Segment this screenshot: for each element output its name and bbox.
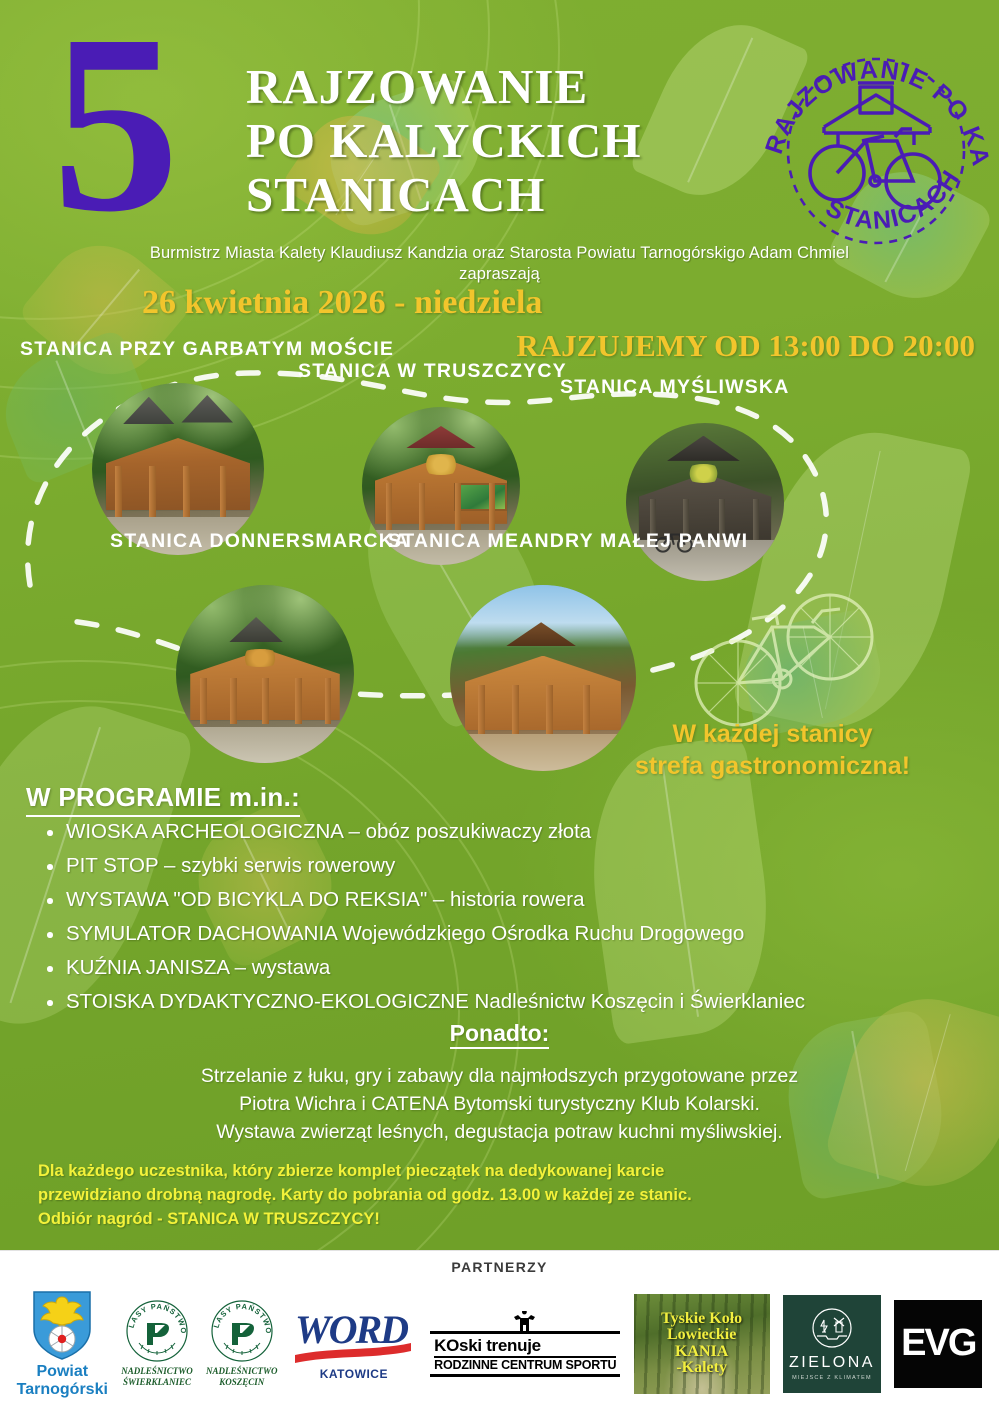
prizes-line-3: Odbiór nagród - STANICA W TRUSZCZYCY! [38,1208,938,1232]
kania-line-1: Tyskie Koło [661,1311,742,1327]
stamp-text-top: RAJZOWANIE PO KALYCKICH [762,33,990,170]
zielona-badge: ZIELONA MIEJSCE Z KLIMATEM [783,1295,881,1393]
partner-logos: Powiat Tarnogórski LASY PAŃSTWOWE [0,1281,999,1406]
evg-title: EVG [901,1322,975,1365]
partners-heading: PARTNERZY [0,1259,999,1275]
kania-line-4: -Kalety [661,1360,742,1376]
page-title: RAJZOWANIE PO KALYCKICH STANICACH [246,62,746,220]
zielona-title: ZIELONA [789,1354,875,1372]
partner-logo-powiat-tarnogorski[interactable]: Powiat Tarnogórski [17,1289,108,1398]
additionally-heading: Ponadto: [0,1020,999,1047]
additionally-line-2: Piotra Wichra i CATENA Bytomski turystyc… [0,1090,999,1118]
kania-forest-photo: Tyskie Koło Lowieckie KANIA -Kalety [634,1294,770,1394]
additionally-line-3: Wystawa zwierząt leśnych, degustacja pot… [0,1118,999,1146]
bicycle-outline-icon [690,575,890,735]
coat-of-arms-eagle-icon [30,1289,94,1361]
program-heading: W PROGRAMIE m.in.: [26,782,300,817]
lasy-panstwowe-icon: LASY PAŃSTWOWE [210,1299,274,1363]
koski-line-2: RODZINNE CENTRUM SPORTU [434,1356,616,1372]
powiat-caption-line-1: Powiat [17,1363,108,1381]
invitation-line-1: Burmistrz Miasta Kalety Klaudiusz Kandzi… [0,243,999,264]
title-line-2: PO KALYCKICH [246,116,746,166]
powiat-caption-line-2: Tarnogórski [17,1381,108,1399]
word-caption: KATOWICE [320,1367,388,1381]
prizes-note: Dla każdego uczestnika, który zbierze ko… [38,1160,938,1232]
additionally-heading-text: Ponadto: [450,1020,550,1049]
title-line-3: STANICACH [246,170,746,220]
nadlesnictwo2-caption-line-2: KOSZĘCIN [206,1377,278,1388]
list-item: KUŹNIA JANISZA – wystawa [38,958,978,979]
nadlesnictwo2-caption-line-1: NADLEŚNICTWO [206,1366,278,1377]
list-item: STOISKA DYDAKTYCZNO-EKOLOGICZNE Nadleśni… [38,992,978,1013]
additionally-text: Strzelanie z łuku, gry i zabawy dla najm… [0,1062,999,1146]
nadlesnictwo1-caption-line-1: NADLEŚNICTWO [121,1366,193,1377]
lasy-panstwowe-icon: LASY PAŃSTWOWE [125,1299,189,1363]
station-label-text: STANICA W TRUSZCZYCY [298,360,567,382]
additionally-line-1: Strzelanie z łuku, gry i zabawy dla najm… [0,1062,999,1090]
prizes-line-2: przewidziano drobną nagrodę. Karty do po… [38,1184,938,1208]
partner-logo-word-katowice[interactable]: WORD KATOWICE [291,1307,417,1381]
station-photo [176,585,354,763]
word-wordmark-icon: WORD [291,1307,417,1367]
gastro-notice: W każdej stanicy strefa gastronomiczna! [560,718,985,782]
partner-logo-koski-trenuje[interactable]: KOski trenuje RODZINNE CENTRUM SPORTU [430,1311,620,1377]
list-item: WIOSKA ARCHEOLOGICZNA – obóz poszukiwacz… [38,822,978,843]
list-item: PIT STOP – szybki serwis rowerowy [38,856,978,877]
koski-wordmark: KOski trenuje RODZINNE CENTRUM SPORTU [430,1331,620,1377]
word-mark-text: WORD [295,1307,408,1352]
partners-footer: PARTNERZY Powiat [0,1250,999,1412]
title-line-1: RAJZOWANIE [246,62,746,112]
evg-badge: EVG [894,1300,982,1388]
gastro-line-2: strefa gastronomiczna! [560,750,985,782]
prizes-line-1: Dla każdego uczestnika, który zbierze ko… [38,1160,938,1184]
partner-logo-nadlesnictwo-swierklaniec[interactable]: LASY PAŃSTWOWE NADLEŚNICTWO ŚWIERKLANIEC [121,1299,193,1389]
kania-line-2: Lowieckie [661,1327,742,1343]
kania-line-3: KANIA [661,1344,742,1360]
invitation-text: Burmistrz Miasta Kalety Klaudiusz Kandzi… [0,243,999,285]
partner-logo-evg[interactable]: EVG [894,1300,982,1388]
invitation-line-2: zapraszają [0,264,999,285]
poster-root: 5 RAJZOWANIE PO KALYCKICH STANICACH RAJZ… [0,0,999,1412]
partner-logo-kania-kalety[interactable]: Tyskie Koło Lowieckie KANIA -Kalety [634,1294,770,1394]
partner-logo-zielona[interactable]: ZIELONA MIEJSCE Z KLIMATEM [783,1295,881,1393]
event-stamp-logo: RAJZOWANIE PO KALYCKICH STANICACH [762,33,990,263]
koski-line-1: KOski trenuje [434,1336,616,1356]
program-list: WIOSKA ARCHEOLOGICZNA – obóz poszukiwacz… [38,822,978,1026]
windmill-and-tree-icon [810,1306,854,1350]
zielona-subtitle: MIEJSCE Z KLIMATEM [792,1375,872,1381]
station-photo [362,407,520,565]
edition-number: 5 [52,16,172,233]
list-item: WYSTAWA "OD BICYKLA DO REKSIA" – histori… [38,890,978,911]
gastro-line-1: W każdej stanicy [560,718,985,750]
list-item: SYMULATOR DACHOWANIA Wojewódzkiego Ośrod… [38,924,978,945]
station-photo [92,383,264,555]
station-label-text: STANICA MYŚLIWSKA [560,374,789,398]
partner-logo-nadlesnictwo-koszecin[interactable]: LASY PAŃSTWOWE NADLEŚNICTWO KOSZĘCIN [206,1299,278,1389]
station-card: STANICA DONNERSMARCKA [110,547,410,769]
event-datetime: 26 kwietnia 2026 - niedziela RAJZUJEMY O… [0,284,999,364]
event-date: 26 kwietnia 2026 - niedziela [0,284,999,322]
nadlesnictwo1-caption-line-2: ŚWIERKLANIEC [121,1377,193,1388]
